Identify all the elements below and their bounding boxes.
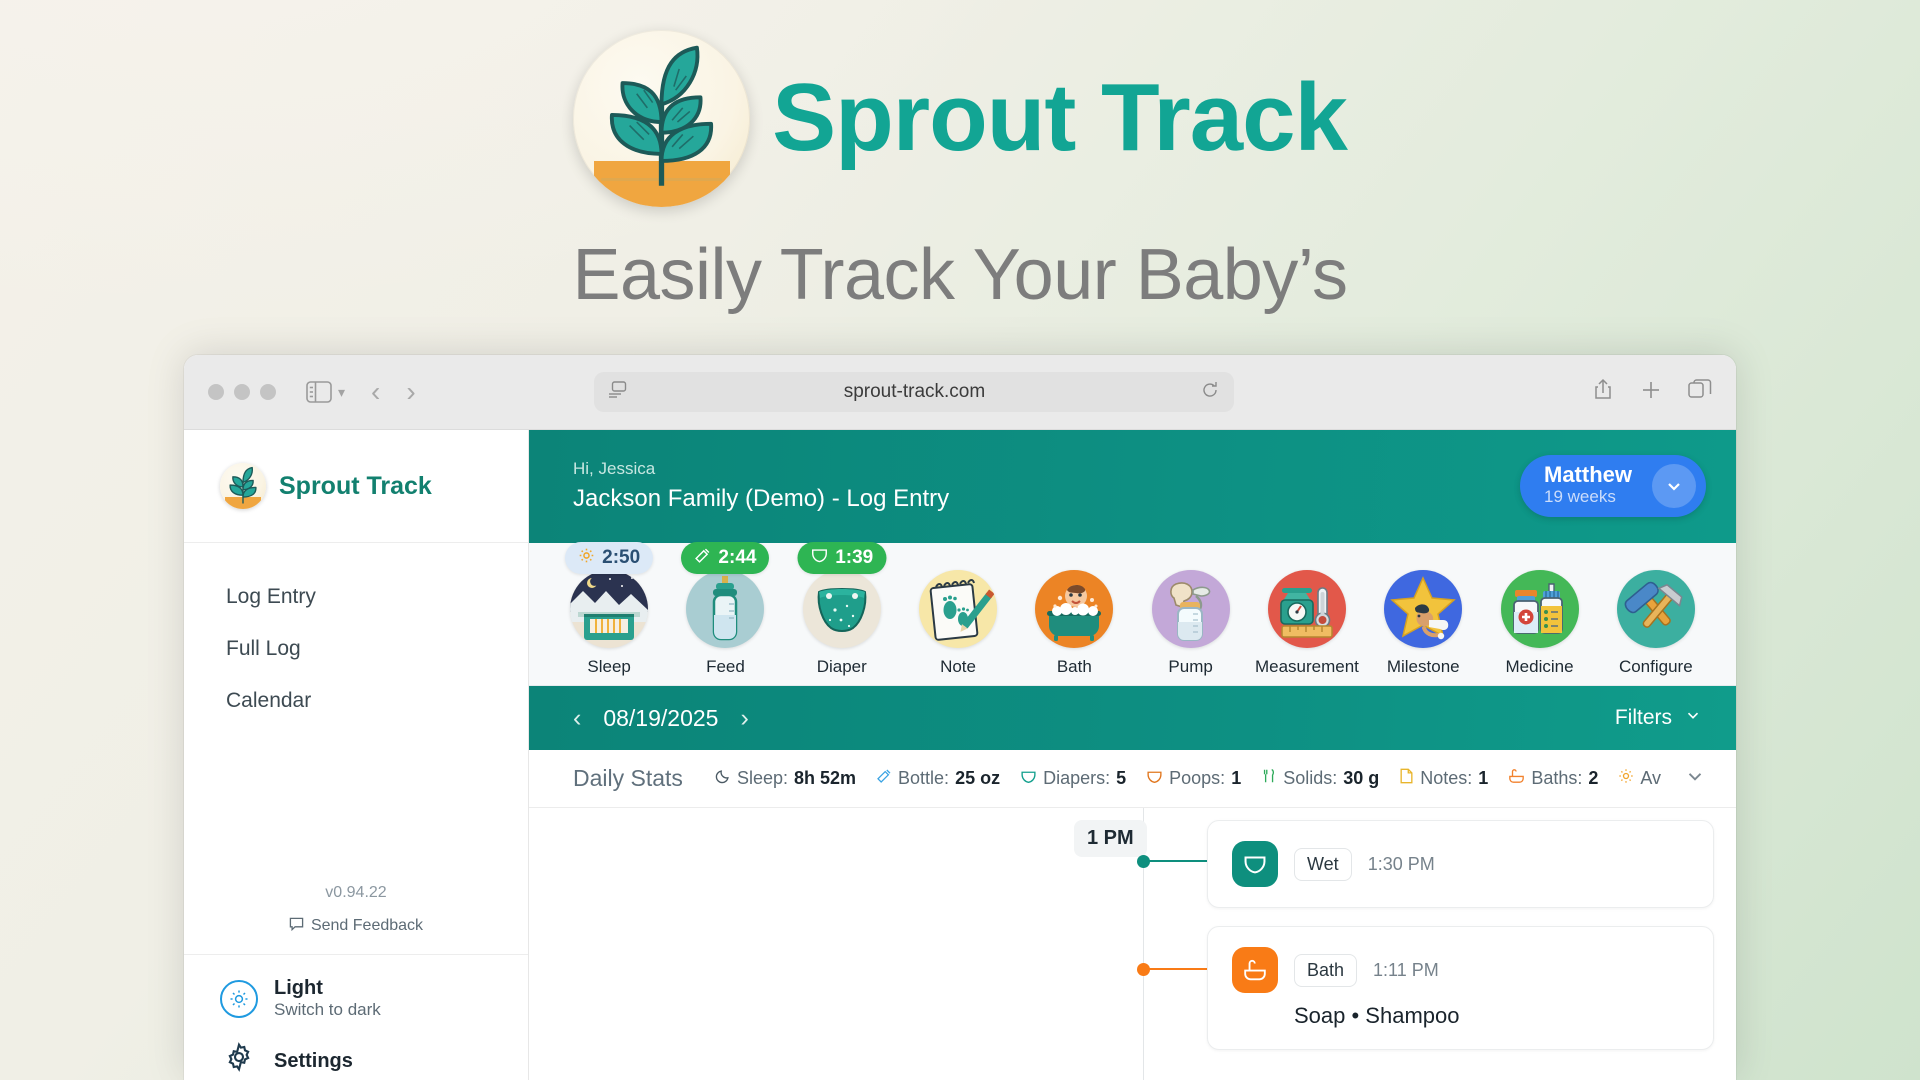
stat-solids: Solids: 30 g — [1261, 768, 1379, 789]
stat-notes: Notes: 1 — [1399, 768, 1488, 789]
quick-action-feed[interactable]: 2:44 Feed — [667, 570, 783, 677]
utensils-icon — [1261, 768, 1277, 789]
share-icon[interactable] — [1592, 378, 1614, 407]
sidebar-brand-label: Sprout Track — [279, 472, 432, 501]
tools-icon — [1617, 570, 1695, 648]
app-header: Hi, Jessica Jackson Family (Demo) - Log … — [529, 430, 1736, 543]
stat-value: 2 — [1588, 768, 1598, 789]
sidebar-item-settings[interactable]: Settings — [184, 1020, 528, 1080]
stat-label: Av — [1640, 768, 1661, 789]
stat-value: 30 g — [1343, 768, 1379, 789]
stat-sleep: Sleep: 8h 52m — [715, 768, 856, 789]
url-text: sprout-track.com — [628, 381, 1200, 403]
stat-diapers: Diapers: 5 — [1020, 768, 1126, 790]
bottle-icon — [694, 547, 711, 570]
quick-action-label: Configure — [1619, 657, 1693, 677]
settings-label: Settings — [274, 1050, 353, 1073]
quick-action-label: Feed — [706, 657, 745, 677]
stat-poops: Poops: 1 — [1146, 768, 1241, 790]
theme-title: Light — [274, 977, 323, 999]
sidebar-bottom-controls: Light Switch to dark Settings — [184, 954, 528, 1080]
timeline-entry-bath[interactable]: Bath 1:11 PM Soap • Shampoo — [1207, 926, 1714, 1050]
baby-name: Matthew — [1544, 462, 1632, 487]
crib-night-icon — [570, 570, 648, 648]
timeline-hour-label: 1 PM — [1074, 820, 1147, 857]
quick-action-configure[interactable]: Configure — [1598, 570, 1714, 677]
quick-action-note[interactable]: Note — [900, 570, 1016, 677]
sidebar-item-full-log[interactable]: Full Log — [184, 623, 528, 675]
quick-action-medicine[interactable]: Medicine — [1481, 570, 1597, 677]
message-icon — [289, 916, 304, 936]
entry-detail: Soap • Shampoo — [1294, 1003, 1689, 1029]
quick-action-diaper[interactable]: 1:39 Diaper — [784, 570, 900, 677]
timeline-entry-diaper[interactable]: Wet 1:30 PM — [1207, 820, 1714, 908]
stat-label: Diapers: — [1043, 768, 1110, 789]
theme-subtitle: Switch to dark — [274, 1000, 381, 1019]
filters-label: Filters — [1615, 706, 1672, 730]
star-baby-icon — [1384, 570, 1462, 648]
plus-icon[interactable] — [1640, 379, 1662, 406]
diaper-icon — [1232, 841, 1278, 887]
reload-icon[interactable] — [1200, 380, 1220, 405]
back-button[interactable]: ‹ — [371, 378, 380, 406]
diaper-icon — [1020, 768, 1037, 790]
poop-icon — [1146, 768, 1163, 790]
stat-label: Bottle: — [898, 768, 949, 789]
stat-baths: Baths: 2 — [1508, 768, 1598, 789]
app-sidebar: Sprout Track Log Entry Full Log Calendar… — [184, 430, 529, 1080]
diaper-timer-value: 1:39 — [835, 547, 873, 569]
next-day-button[interactable]: › — [740, 704, 748, 733]
quick-action-row: 2:50 — [529, 543, 1736, 686]
address-bar[interactable]: sprout-track.com — [594, 372, 1234, 412]
bath-icon — [1232, 947, 1278, 993]
stat-label: Poops: — [1169, 768, 1225, 789]
chevron-down-icon[interactable] — [1652, 464, 1696, 508]
current-date: 08/19/2025 — [603, 705, 718, 732]
quick-action-label: Milestone — [1387, 657, 1460, 677]
quick-action-label: Note — [940, 657, 976, 677]
daily-stats-title: Daily Stats — [573, 765, 683, 792]
sleep-timer-value: 2:50 — [602, 547, 640, 569]
send-feedback-button[interactable]: Send Feedback — [184, 916, 528, 936]
sun-icon — [578, 547, 595, 570]
tab-overview-icon[interactable] — [1688, 379, 1712, 406]
entry-time: 1:30 PM — [1368, 854, 1435, 875]
notepad-feet-icon — [919, 570, 997, 648]
expand-stats-button[interactable] — [1684, 765, 1706, 792]
sidebar-brand[interactable]: Sprout Track — [184, 430, 528, 543]
gear-icon — [220, 1042, 258, 1080]
sun-icon — [220, 980, 258, 1018]
sprout-leaf-logo-icon — [220, 463, 266, 509]
minimize-window-button[interactable] — [234, 384, 250, 400]
sidebar-item-calendar[interactable]: Calendar — [184, 675, 528, 727]
feed-timer-badge: 2:44 — [681, 542, 769, 574]
quick-action-label: Diaper — [817, 657, 867, 677]
chevron-down-icon — [1684, 706, 1702, 730]
bath-icon — [1508, 768, 1525, 789]
stat-average-truncated: Av — [1618, 768, 1661, 789]
quick-action-measurement[interactable]: Measurement — [1249, 570, 1365, 677]
bathtub-baby-icon — [1035, 570, 1113, 648]
app-main: Hi, Jessica Jackson Family (Demo) - Log … — [529, 430, 1736, 1080]
feed-timer-value: 2:44 — [718, 547, 756, 569]
stat-bottle: Bottle: 25 oz — [876, 768, 1000, 789]
quick-action-label: Medicine — [1506, 657, 1574, 677]
page-title: Sprout Track — [772, 70, 1347, 166]
stat-label: Sleep: — [737, 768, 788, 789]
entry-type-badge: Bath — [1294, 954, 1357, 987]
diaper-timer-badge: 1:39 — [797, 542, 886, 574]
hero-title-row: Sprout Track — [0, 18, 1920, 218]
stat-value: 5 — [1116, 768, 1126, 789]
quick-action-pump[interactable]: Pump — [1132, 570, 1248, 677]
timeline: 1 PM Wet 1:30 PM — [529, 808, 1736, 1080]
browser-toolbar: ▾ ‹ › sprout-track.com — [184, 355, 1736, 430]
timeline-connector — [1143, 860, 1207, 862]
version-label: v0.94.22 — [184, 884, 528, 902]
baby-age: 19 weeks — [1544, 487, 1616, 506]
sidebar-icon[interactable] — [306, 381, 332, 403]
timeline-connector — [1143, 968, 1207, 970]
baby-selector[interactable]: Matthew 19 weeks — [1520, 455, 1706, 517]
reader-view-icon[interactable] — [608, 381, 628, 404]
filters-button[interactable]: Filters — [1615, 706, 1702, 730]
medicine-icon — [1501, 570, 1579, 648]
diaper-icon — [810, 546, 828, 570]
quick-action-sleep[interactable]: 2:50 — [551, 570, 667, 677]
stat-value: 8h 52m — [794, 768, 856, 789]
hero-subtitle: Easily Track Your Baby’s — [0, 234, 1920, 316]
date-navigation-bar: ‹ 08/19/2025 › Filters — [529, 686, 1736, 750]
send-feedback-label: Send Feedback — [311, 917, 423, 935]
sun-icon — [1618, 768, 1634, 789]
entry-type-badge: Wet — [1294, 848, 1352, 881]
scale-ruler-icon — [1268, 570, 1346, 648]
stat-value: 25 oz — [955, 768, 1000, 789]
cloth-diaper-icon — [803, 570, 881, 648]
chevron-down-icon[interactable]: ▾ — [338, 384, 345, 401]
sleep-timer-badge: 2:50 — [565, 542, 653, 574]
forward-button[interactable]: › — [406, 378, 415, 406]
quick-action-milestone[interactable]: Milestone — [1365, 570, 1481, 677]
context-label: Jackson Family (Demo) - Log Entry — [573, 485, 949, 513]
sidebar-nav: Log Entry Full Log Calendar — [184, 543, 528, 727]
quick-action-bath[interactable]: Bath — [1016, 570, 1132, 677]
quick-action-label: Pump — [1168, 657, 1212, 677]
app-viewport: Sprout Track Log Entry Full Log Calendar… — [184, 430, 1736, 1080]
baby-bottle-icon — [686, 570, 764, 648]
quick-action-label: Bath — [1057, 657, 1092, 677]
bottle-icon — [876, 768, 892, 789]
stat-value: 1 — [1478, 768, 1488, 789]
close-window-button[interactable] — [208, 384, 224, 400]
stat-label: Solids: — [1283, 768, 1337, 789]
moon-icon — [715, 768, 731, 789]
hero-section: Sprout Track Easily Track Your Baby’s — [0, 0, 1920, 316]
previous-day-button[interactable]: ‹ — [573, 704, 581, 733]
note-icon — [1399, 768, 1414, 789]
sidebar-footer: v0.94.22 Send Feedback — [184, 884, 528, 954]
entry-time: 1:11 PM — [1373, 960, 1439, 981]
greeting-label: Hi, Jessica — [573, 459, 949, 479]
daily-stats-bar: Daily Stats Sleep: 8h 52m Bottle: 25 oz … — [529, 750, 1736, 808]
quick-action-label: Measurement — [1255, 657, 1359, 677]
theme-toggle[interactable]: Light Switch to dark — [184, 977, 528, 1020]
quick-action-label: Sleep — [587, 657, 630, 677]
window-traffic-lights[interactable] — [208, 384, 276, 400]
browser-window: ▾ ‹ › sprout-track.com — [184, 355, 1736, 1080]
stat-label: Baths: — [1531, 768, 1582, 789]
zoom-window-button[interactable] — [260, 384, 276, 400]
breast-pump-icon — [1152, 570, 1230, 648]
sprout-leaf-logo-icon — [573, 30, 750, 207]
stat-label: Notes: — [1420, 768, 1472, 789]
sidebar-item-log-entry[interactable]: Log Entry — [184, 571, 528, 623]
stat-value: 1 — [1231, 768, 1241, 789]
